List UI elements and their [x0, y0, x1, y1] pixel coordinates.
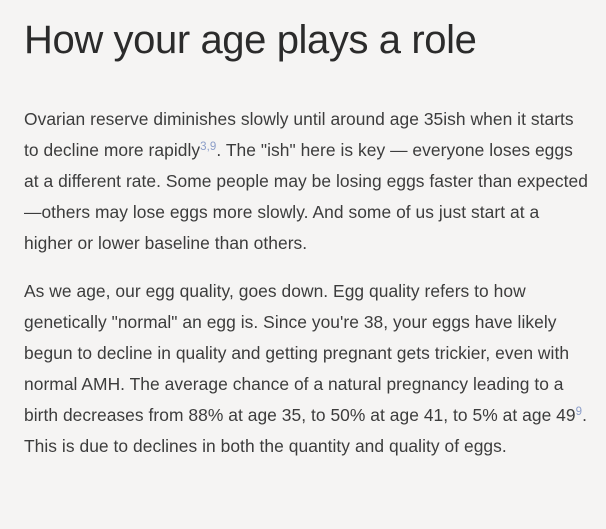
page-title: How your age plays a role: [24, 0, 544, 68]
paragraph-ovarian-reserve: Ovarian reserve diminishes slowly until …: [24, 68, 588, 259]
article-container: How your age plays a role Ovarian reserv…: [0, 0, 606, 462]
paragraph-text-run: As we age, our egg quality, goes down. E…: [24, 281, 576, 425]
paragraph-egg-quality: As we age, our egg quality, goes down. E…: [24, 259, 588, 462]
citation-reference[interactable]: 3,9: [200, 141, 216, 153]
